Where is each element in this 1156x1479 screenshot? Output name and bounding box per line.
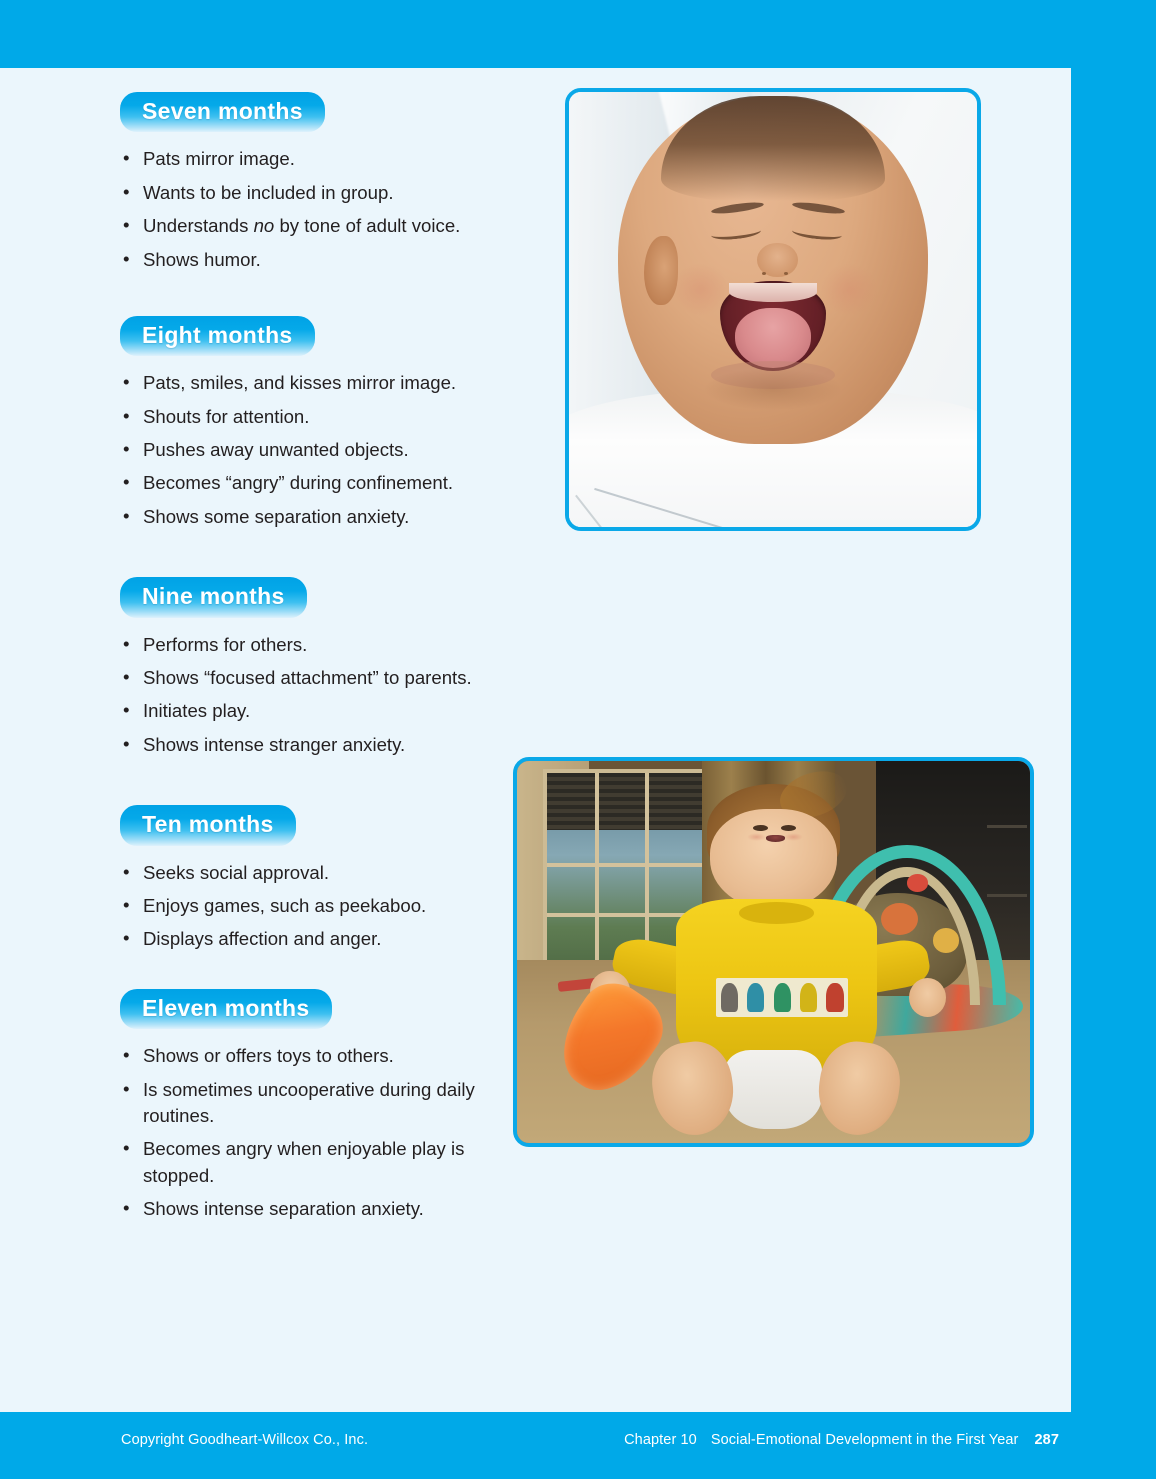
toddler (630, 784, 917, 1143)
list-item: Shows intense separation anxiety. (120, 1196, 490, 1222)
textbook-page: Seven months Pats mirror image. Wants to… (0, 0, 1156, 1479)
list-item: Initiates play. (120, 698, 490, 724)
photo-scene (569, 92, 977, 527)
page-footer: Copyright Goodheart-Willcox Co., Inc. Ch… (0, 1412, 1156, 1479)
fleur-de-lis-icon (721, 983, 738, 1012)
section-seven-months: Seven months Pats mirror image. Wants to… (120, 92, 490, 273)
fleur-de-lis-band (716, 978, 848, 1017)
list-item: Pats mirror image. (120, 146, 490, 172)
heading-seven-months: Seven months (120, 92, 325, 132)
bullet-list-seven-months: Pats mirror image. Wants to be included … (120, 146, 490, 273)
baby-cheek-right (820, 263, 879, 315)
photo-laughing-baby (565, 88, 981, 531)
list-item: Pats, smiles, and kisses mirror image. (120, 370, 490, 396)
bullet-list-ten-months: Seeks social approval. Enjoys games, suc… (120, 860, 490, 953)
milestones-column: Seven months Pats mirror image. Wants to… (120, 92, 490, 1229)
list-item: Pushes away unwanted objects. (120, 437, 490, 463)
list-item: Displays affection and anger. (120, 926, 490, 952)
photo-toddler-with-toy (513, 757, 1034, 1147)
heading-ten-months: Ten months (120, 805, 296, 845)
chapter-title: Social-Emotional Development in the Firs… (711, 1432, 1019, 1448)
section-gap (120, 537, 490, 577)
page-number: 287 (1035, 1432, 1060, 1448)
toddler-face (710, 809, 836, 910)
list-item: Shows intense stranger anxiety. (120, 732, 490, 758)
list-item: Is sometimes uncooperative during daily … (120, 1077, 490, 1130)
section-gap (120, 765, 490, 805)
fleur-de-lis-icon (774, 983, 791, 1012)
fleur-de-lis-icon (826, 983, 843, 1012)
baby-tongue (735, 308, 811, 368)
baby-upper-gum (729, 283, 818, 303)
footer-chapter-info: Chapter 10 Social-Emotional Development … (624, 1432, 1059, 1448)
photo-scene (517, 761, 1030, 1143)
heading-eleven-months: Eleven months (120, 989, 332, 1029)
section-eleven-months: Eleven months Shows or offers toys to ot… (120, 989, 490, 1223)
toddler-cheek-left (747, 833, 766, 841)
list-item: Understands no by tone of adult voice. (120, 213, 490, 239)
baby-eye-right-closed (791, 224, 842, 241)
list-item: Becomes “angry” during confinement. (120, 470, 490, 496)
heading-nine-months: Nine months (120, 577, 307, 617)
section-ten-months: Ten months Seeks social approval. Enjoys… (120, 805, 490, 953)
baby-nostril (762, 272, 766, 275)
bullet-list-eight-months: Pats, smiles, and kisses mirror image. S… (120, 370, 490, 530)
fleur-de-lis-icon (800, 983, 817, 1012)
baby-head (618, 96, 928, 444)
heading-eight-months: Eight months (120, 316, 315, 356)
shelf-edge (987, 825, 1027, 828)
list-item: Becomes angry when enjoyable play is sto… (120, 1136, 490, 1189)
baby-nostril (784, 272, 788, 275)
hanging-toy (933, 928, 959, 952)
baby-eyebrow-right (791, 201, 844, 216)
onesie-seam (576, 495, 635, 527)
list-item: Enjoys games, such as peekaboo. (120, 893, 490, 919)
toddler-hand-right (909, 978, 946, 1017)
list-item: Shouts for attention. (120, 404, 490, 430)
chapter-number: Chapter 10 (624, 1432, 697, 1448)
baby-chin-shadow (705, 368, 841, 410)
toddler-cheek-right (784, 833, 803, 841)
toddler-eye-right (781, 825, 796, 831)
list-item: Shows humor. (120, 247, 490, 273)
baby-eye-left-closed (710, 224, 761, 241)
window-mullion (595, 773, 599, 979)
baby-open-mouth (720, 281, 825, 371)
section-eight-months: Eight months Pats, smiles, and kisses mi… (120, 316, 490, 530)
list-item: Shows “focused attachment” to parents. (120, 665, 490, 691)
list-item: Performs for others. (120, 632, 490, 658)
toddler-eye-left (753, 825, 768, 831)
list-item: Shows or offers toys to others. (120, 1043, 490, 1069)
list-item: Wants to be included in group. (120, 180, 490, 206)
baby-eyebrow-left (711, 201, 764, 216)
footer-content: Copyright Goodheart-Willcox Co., Inc. Ch… (0, 1412, 1071, 1479)
toddler-shirt-collar (739, 902, 814, 924)
list-item: Shows some separation anxiety. (120, 504, 490, 530)
onesie-seam (594, 488, 746, 527)
list-item: Seeks social approval. (120, 860, 490, 886)
copyright-notice: Copyright Goodheart-Willcox Co., Inc. (121, 1432, 368, 1448)
bullet-list-eleven-months: Shows or offers toys to others. Is somet… (120, 1043, 490, 1222)
section-gap (120, 960, 490, 989)
section-nine-months: Nine months Performs for others. Shows “… (120, 577, 490, 758)
fleur-de-lis-icon (747, 983, 764, 1012)
section-gap (120, 280, 490, 316)
toddler-smiling-mouth (766, 835, 785, 842)
bullet-list-nine-months: Performs for others. Shows “focused atta… (120, 632, 490, 759)
toddler-diaper (725, 1050, 823, 1129)
